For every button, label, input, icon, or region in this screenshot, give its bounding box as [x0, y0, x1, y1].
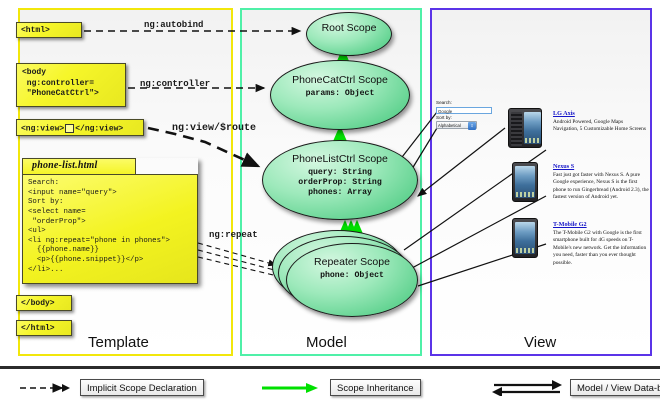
column-label-view: View [524, 334, 556, 351]
code-tag-ngview: <ng:view></ng:view> [16, 119, 144, 136]
scope-root: Root Scope [306, 12, 392, 56]
phone-name-link-3[interactable]: T-Mobile G2 [553, 221, 649, 228]
legend-item-scope-inheritance: Scope Inheritance [260, 379, 324, 397]
label-ng-repeat: ng:repeat [209, 230, 258, 240]
legend-dashed-arrow-icon [18, 379, 76, 396]
scope-phonelistctrl-props: query: String orderProp: String phones: … [263, 168, 417, 198]
label-ng-view-route: ng:view/$route [172, 123, 256, 134]
scope-root-name: Root Scope [307, 22, 391, 34]
phone-thumbnail-1 [508, 108, 542, 148]
code-tag-body-close: </body> [16, 295, 72, 311]
sort-select[interactable]: Alphabetical⇳ [436, 121, 477, 129]
label-ng-autobind: ng:autobind [144, 20, 203, 30]
phone-screen-1 [524, 112, 541, 144]
phone-listing-3: T-Mobile G2 The T-Mobile G2 with Google … [553, 221, 649, 267]
phone-snippet-1: Android Powered, Google Maps Navigation,… [553, 119, 649, 134]
column-label-model: Model [306, 334, 347, 351]
legend-green-arrow-icon [260, 379, 324, 396]
phone-thumbnail-2 [512, 162, 538, 202]
search-widget: Search: Google Sort by: Alphabetical⇳ [436, 100, 494, 129]
search-label: Search: [436, 100, 494, 106]
code-tag-body: <body ng:controller= "PhoneCatCtrl"> [16, 63, 126, 107]
legend-double-arrow-icon [490, 379, 564, 396]
scope-repeater: Repeater Scope phone: Object [286, 243, 418, 317]
phone-snippet-3: The T-Mobile G2 with Google is the first… [553, 230, 649, 267]
ngview-open-label: <ng:view> [21, 125, 64, 134]
phone-screen-2 [515, 166, 535, 198]
phone-listing-1: LG Axis Android Powered, Google Maps Nav… [553, 110, 649, 134]
code-tag-html-close: </html> [16, 320, 72, 336]
file-card-title: phone-list.html [32, 160, 98, 171]
scope-phonelistctrl-name: PhoneListCtrl Scope [263, 153, 417, 165]
phone-thumbnail-3 [512, 218, 538, 258]
phone-snippet-2: Fast just got faster with Nexus S. A pur… [553, 172, 649, 202]
template-file-card: phone-list.html Search: <input name="que… [22, 158, 198, 284]
phone-name-link-1[interactable]: LG Axis [553, 110, 649, 117]
sort-select-value: Alphabetical [438, 123, 461, 128]
scope-repeater-props: phone: Object [287, 271, 417, 281]
column-label-template: Template [88, 334, 149, 351]
angularjs-architecture-diagram: <html> <body ng:controller= "PhoneCatCtr… [0, 0, 660, 405]
scope-phonecatctrl-name: PhoneCatCtrl Scope [271, 74, 409, 86]
legend: Implicit Scope Declaration Scope Inherit… [0, 366, 660, 405]
search-input[interactable]: Google [436, 107, 492, 114]
scope-phonecatctrl: PhoneCatCtrl Scope params: Object [270, 60, 410, 130]
legend-label-scope-inheritance: Scope Inheritance [330, 379, 421, 396]
phone-name-link-2[interactable]: Nexus S [553, 163, 649, 170]
label-ng-controller: ng:controller [140, 79, 210, 89]
chevron-updown-icon: ⇳ [468, 122, 476, 130]
scope-repeater-name: Repeater Scope [287, 256, 417, 268]
code-tag-html: <html> [16, 22, 82, 38]
legend-item-data-binding: Model / View Data-binding [490, 379, 564, 397]
legend-label-data-binding: Model / View Data-binding [570, 379, 660, 396]
phone-keyboard-1 [511, 112, 522, 146]
ngview-placeholder-icon [65, 124, 74, 133]
phone-listing-2: Nexus S Fast just got faster with Nexus … [553, 163, 649, 202]
scope-phonecatctrl-props: params: Object [271, 89, 409, 99]
legend-item-implicit-scope: Implicit Scope Declaration [18, 379, 76, 397]
legend-label-implicit-scope: Implicit Scope Declaration [80, 379, 204, 396]
file-card-code: Search: <input name="query"> Sort by: <s… [22, 174, 198, 284]
ngview-close-label: </ng:view> [75, 125, 123, 134]
phone-screen-3 [515, 222, 535, 254]
scope-phonelistctrl: PhoneListCtrl Scope query: String orderP… [262, 140, 418, 220]
sort-label: Sort by: [436, 115, 494, 121]
